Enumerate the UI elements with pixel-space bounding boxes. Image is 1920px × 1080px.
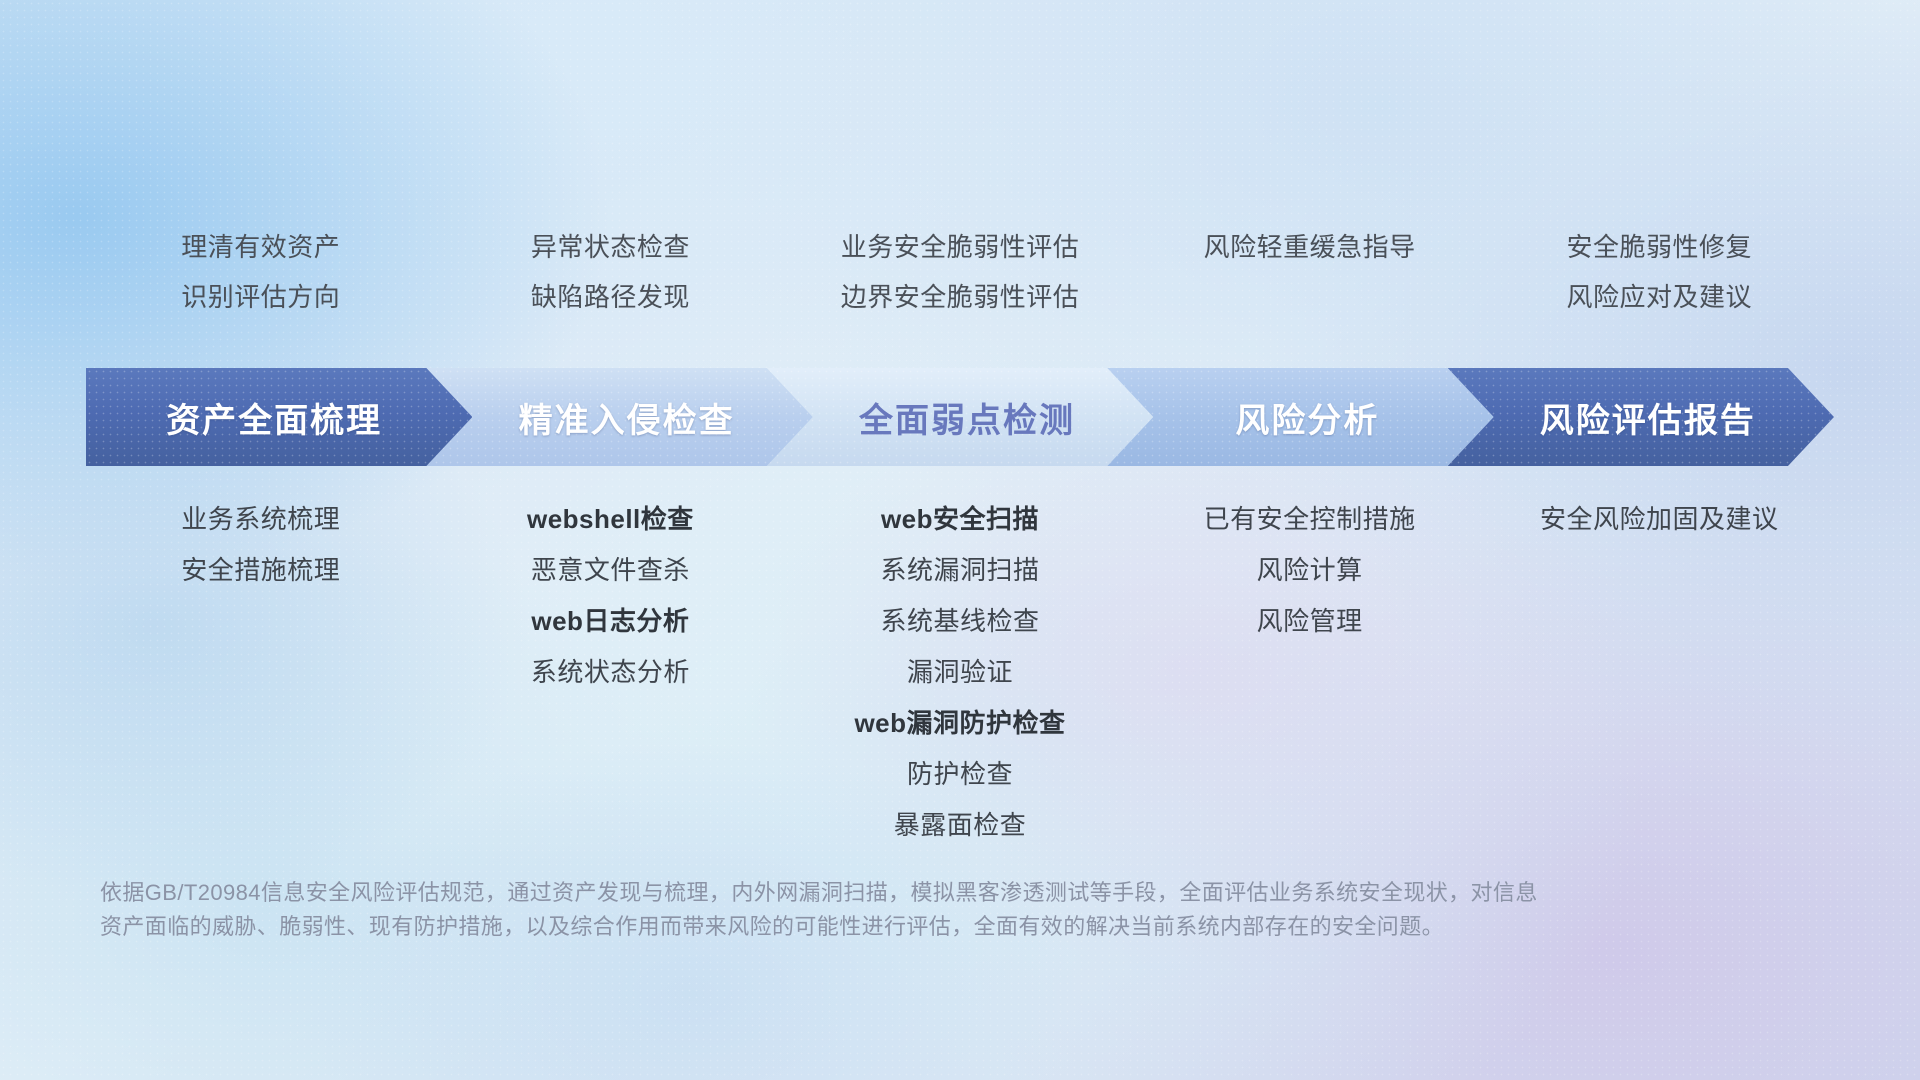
bottom-activities-row: 业务系统梳理安全措施梳理webshell检查恶意文件查杀web日志分析系统状态分… [86,506,1834,863]
bottom-item: 已有安全控制措施 [1135,506,1485,532]
stage-label: 风险评估报告 [1540,393,1756,442]
bottom-column-risk-report: 安全风险加固及建议 [1484,506,1834,863]
bottom-item: 风险管理 [1135,608,1485,634]
bottom-item: 业务系统梳理 [86,506,436,532]
slide-canvas: 理清有效资产识别评估方向异常状态检查缺陷路径发现业务安全脆弱性评估边界安全脆弱性… [0,0,1920,1080]
bottom-column-intrusion-check: webshell检查恶意文件查杀web日志分析系统状态分析 [436,506,786,863]
top-item: 缺陷路径发现 [436,284,786,310]
bottom-item: 恶意文件查杀 [436,557,786,583]
top-item: 识别评估方向 [86,284,436,310]
bottom-item: 安全措施梳理 [86,557,436,583]
bottom-column-asset-inventory: 业务系统梳理安全措施梳理 [86,506,436,863]
bottom-item: webshell检查 [436,506,786,532]
process-stage-risk-analysis[interactable]: 风险分析 [1107,368,1493,466]
top-item: 风险轻重缓急指导 [1135,234,1485,260]
bottom-item: 暴露面检查 [785,812,1135,838]
bottom-item: web漏洞防护检查 [785,710,1135,736]
stage-label: 资产全面梳理 [166,393,382,442]
bottom-item: 防护检查 [785,761,1135,787]
bottom-column-risk-analysis: 已有安全控制措施风险计算风险管理 [1135,506,1485,863]
footer-description: 依据GB/T20984信息安全风险评估规范，通过资产发现与梳理，内外网漏洞扫描，… [100,876,1760,944]
process-stage-weakness-detection[interactable]: 全面弱点检测 [767,368,1153,466]
bottom-item: web安全扫描 [785,506,1135,532]
stage-label: 全面弱点检测 [859,393,1075,442]
top-column-asset-inventory: 理清有效资产识别评估方向 [86,234,436,334]
bottom-item: 安全风险加固及建议 [1484,506,1834,532]
top-column-risk-report: 安全脆弱性修复风险应对及建议 [1484,234,1834,334]
bottom-item: web日志分析 [436,608,786,634]
bottom-item: 漏洞验证 [785,659,1135,685]
bottom-item: 系统漏洞扫描 [785,557,1135,583]
top-item: 理清有效资产 [86,234,436,260]
bottom-item: 系统状态分析 [436,659,786,685]
top-item: 风险应对及建议 [1484,284,1834,310]
bottom-item: 风险计算 [1135,557,1485,583]
process-stage-risk-report[interactable]: 风险评估报告 [1448,368,1834,466]
top-item: 异常状态检查 [436,234,786,260]
bottom-column-weakness-detection: web安全扫描系统漏洞扫描系统基线检查漏洞验证web漏洞防护检查防护检查暴露面检… [785,506,1135,863]
stage-label: 风险分析 [1235,393,1379,442]
top-item: 业务安全脆弱性评估 [785,234,1135,260]
top-item: 安全脆弱性修复 [1484,234,1834,260]
process-stage-intrusion-check[interactable]: 精准入侵检查 [426,368,812,466]
top-column-intrusion-check: 异常状态检查缺陷路径发现 [436,234,786,334]
process-stage-asset-inventory[interactable]: 资产全面梳理 [86,368,472,466]
footer-line-1: 依据GB/T20984信息安全风险评估规范，通过资产发现与梳理，内外网漏洞扫描，… [100,876,1760,910]
top-column-risk-analysis: 风险轻重缓急指导 [1135,234,1485,334]
process-arrow-band: 资产全面梳理精准入侵检查全面弱点检测风险分析风险评估报告 [86,368,1834,466]
bottom-item: 系统基线检查 [785,608,1135,634]
top-outcomes-row: 理清有效资产识别评估方向异常状态检查缺陷路径发现业务安全脆弱性评估边界安全脆弱性… [86,234,1834,334]
footer-line-2: 资产面临的威胁、脆弱性、现有防护措施，以及综合作用而带来风险的可能性进行评估，全… [100,910,1760,944]
top-column-weakness-detection: 业务安全脆弱性评估边界安全脆弱性评估 [785,234,1135,334]
top-item: 边界安全脆弱性评估 [785,284,1135,310]
stage-label: 精准入侵检查 [519,393,735,442]
